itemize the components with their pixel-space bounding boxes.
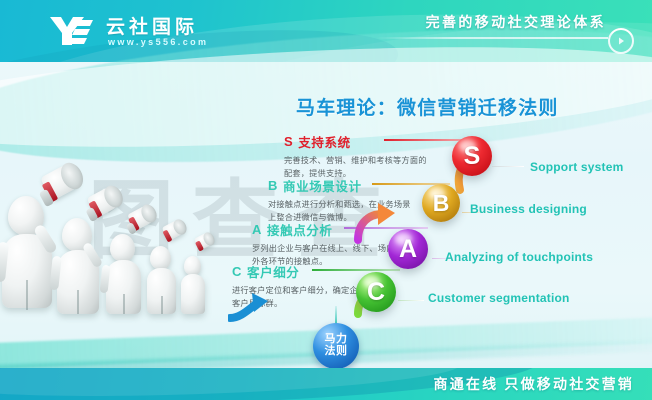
eng-rule-c — [398, 300, 424, 301]
horsepower-badge[interactable]: 马力 法则 — [313, 323, 359, 369]
page-footer: 商通在线 只做移动社交营销 — [0, 368, 652, 400]
page-title: 马车理论：微信营销迁移法则 — [296, 93, 559, 120]
sphere-b-letter: B — [433, 190, 450, 217]
sphere-s[interactable]: S — [452, 136, 492, 176]
step-c-heading-text: 客户细分 — [247, 262, 299, 281]
step-a-heading-text: 接触点分析 — [267, 220, 333, 239]
english-label-b: Business designing — [470, 202, 587, 216]
footer-slogan: 商通在线 只做移动社交营销 — [434, 374, 635, 394]
sphere-b[interactable]: B — [422, 184, 460, 222]
step-s-heading: S 支持系统 — [284, 132, 434, 151]
sphere-a-letter: A — [399, 235, 417, 264]
sphere-c-letter: C — [367, 278, 385, 307]
step-a-letter: A — [252, 222, 262, 237]
poster-canvas: 云社国际 www.ys556.com 完善的移动社交理论体系 图查查 — [0, 0, 652, 400]
sphere-a[interactable]: A — [388, 229, 428, 269]
brand-website: www.ys556.com — [108, 37, 208, 47]
english-label-c: Customer segmentation — [428, 291, 570, 305]
eng-rule-s — [492, 166, 524, 167]
step-b-heading-text: 商业场景设计 — [283, 176, 362, 195]
arrow-entry-icon — [228, 290, 270, 326]
step-s-heading-text: 支持系统 — [298, 132, 350, 151]
step-s-letter: S — [284, 134, 293, 149]
step-b-letter: B — [268, 178, 278, 193]
english-label-a: Analyzing of touchpoints — [445, 250, 593, 264]
sphere-s-letter: S — [464, 142, 481, 171]
sphere-c[interactable]: C — [356, 272, 396, 312]
step-block-s: S 支持系统 完善技术、营销、维护和考核等方面的配套，提供支持。 — [284, 132, 434, 180]
step-c-rule — [312, 269, 400, 271]
ys-monogram-icon — [48, 14, 94, 48]
english-label-s: Sopport system — [530, 160, 624, 174]
step-b-heading: B 商业场景设计 — [268, 176, 418, 195]
step-c-letter: C — [232, 264, 242, 279]
brand-name-cn: 云社国际 — [106, 12, 198, 39]
badge-line-2: 法则 — [325, 346, 348, 358]
